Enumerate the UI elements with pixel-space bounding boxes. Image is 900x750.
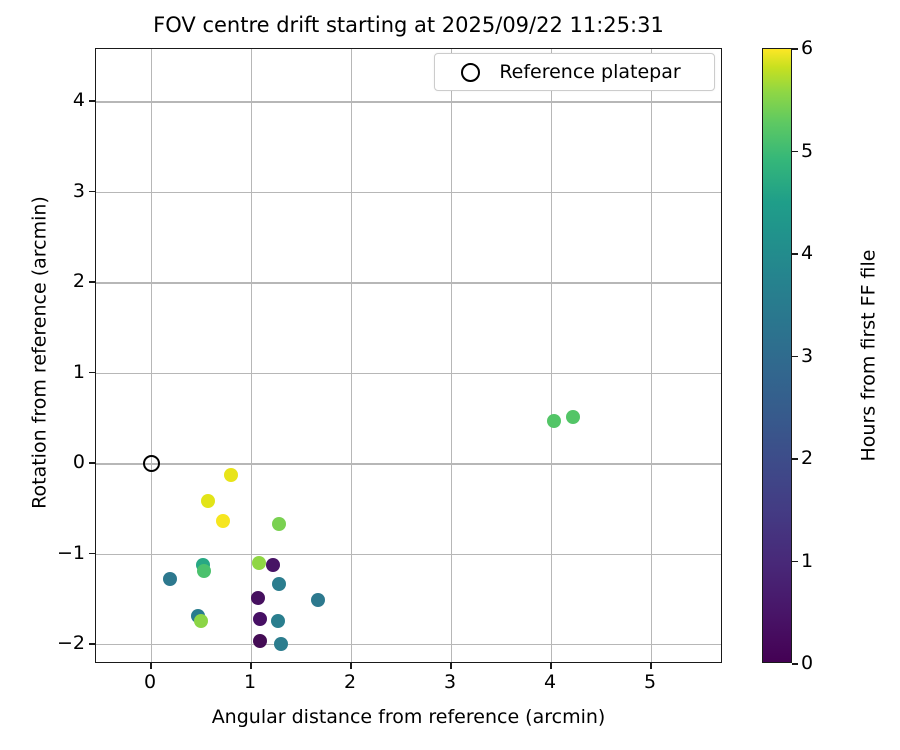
gridline-horizontal — [96, 282, 721, 283]
plot-area — [95, 48, 722, 663]
x-axis-tick-mark — [250, 663, 252, 669]
y-axis-tick-mark — [89, 281, 95, 283]
colorbar-tick-label: 2 — [801, 447, 813, 469]
reference-platepar-marker — [143, 455, 160, 472]
x-axis-tick-label: 3 — [420, 671, 480, 693]
data-point — [266, 558, 280, 572]
data-point — [547, 414, 561, 428]
data-point — [194, 614, 208, 628]
colorbar-tick-mark — [792, 356, 798, 358]
colorbar-label: Hours from first FF file — [858, 46, 881, 666]
colorbar-tick-label: 3 — [801, 345, 813, 367]
y-axis-tick-mark — [89, 372, 95, 374]
colorbar-gradient — [762, 48, 792, 663]
chart-title: FOV centre drift starting at 2025/09/22 … — [95, 12, 722, 38]
data-point — [274, 637, 288, 651]
colorbar-tick-label: 4 — [801, 242, 813, 264]
colorbar-tick-mark — [792, 151, 798, 153]
colorbar-tick-label: 0 — [801, 652, 813, 674]
gridline-vertical — [251, 49, 252, 662]
colorbar-tick-mark — [792, 458, 798, 460]
gridline-horizontal — [96, 101, 721, 102]
x-axis-tick-label: 2 — [320, 671, 380, 693]
colorbar-tick-mark — [792, 253, 798, 255]
data-point — [566, 410, 580, 424]
data-point — [224, 468, 238, 482]
data-point — [252, 556, 266, 570]
y-axis-tick-mark — [89, 462, 95, 464]
x-axis-tick-mark — [650, 663, 652, 669]
data-point — [216, 514, 230, 528]
x-axis-tick-label: 4 — [520, 671, 580, 693]
x-axis-tick-mark — [350, 663, 352, 669]
data-point — [197, 564, 211, 578]
gridline-horizontal — [96, 192, 721, 193]
x-axis-tick-label: 5 — [620, 671, 680, 693]
data-point — [253, 634, 267, 648]
colorbar-tick-mark — [792, 48, 798, 50]
x-axis-tick-mark — [450, 663, 452, 669]
y-axis-tick-mark — [89, 643, 95, 645]
gridline-vertical — [351, 49, 352, 662]
colorbar-tick-label: 1 — [801, 550, 813, 572]
y-axis-tick-mark — [89, 191, 95, 193]
scatter-chart-figure: FOV centre drift starting at 2025/09/22 … — [0, 0, 900, 750]
gridline-vertical — [551, 49, 552, 662]
gridline-vertical — [651, 49, 652, 662]
data-point — [272, 517, 286, 531]
y-axis-tick-mark — [89, 100, 95, 102]
colorbar-tick-mark — [792, 561, 798, 563]
gridline-vertical — [151, 49, 152, 662]
x-axis-tick-label: 0 — [120, 671, 180, 693]
data-point — [311, 593, 325, 607]
data-point — [272, 577, 286, 591]
x-axis-tick-label: 1 — [220, 671, 280, 693]
colorbar-tick-label: 5 — [801, 140, 813, 162]
gridline-horizontal — [96, 373, 721, 374]
colorbar-tick-label: 6 — [801, 37, 813, 59]
legend-marker-reference-platepar — [461, 63, 480, 82]
colorbar-tick-mark — [792, 663, 798, 665]
gridline-horizontal — [96, 463, 721, 464]
data-point — [251, 591, 265, 605]
data-point — [201, 494, 215, 508]
y-axis-tick-mark — [89, 553, 95, 555]
y-axis-label: Rotation from reference (arcmin) — [29, 43, 52, 663]
gridline-horizontal — [96, 554, 721, 555]
data-point — [163, 572, 177, 586]
x-axis-tick-mark — [150, 663, 152, 669]
gridline-vertical — [451, 49, 452, 662]
chart-legend: Reference platepar — [434, 53, 715, 91]
data-point — [271, 614, 285, 628]
legend-label-reference-platepar: Reference platepar — [480, 61, 714, 83]
gridline-horizontal — [96, 644, 721, 645]
x-axis-label: Angular distance from reference (arcmin) — [95, 706, 722, 729]
x-axis-tick-mark — [550, 663, 552, 669]
data-point — [253, 612, 267, 626]
